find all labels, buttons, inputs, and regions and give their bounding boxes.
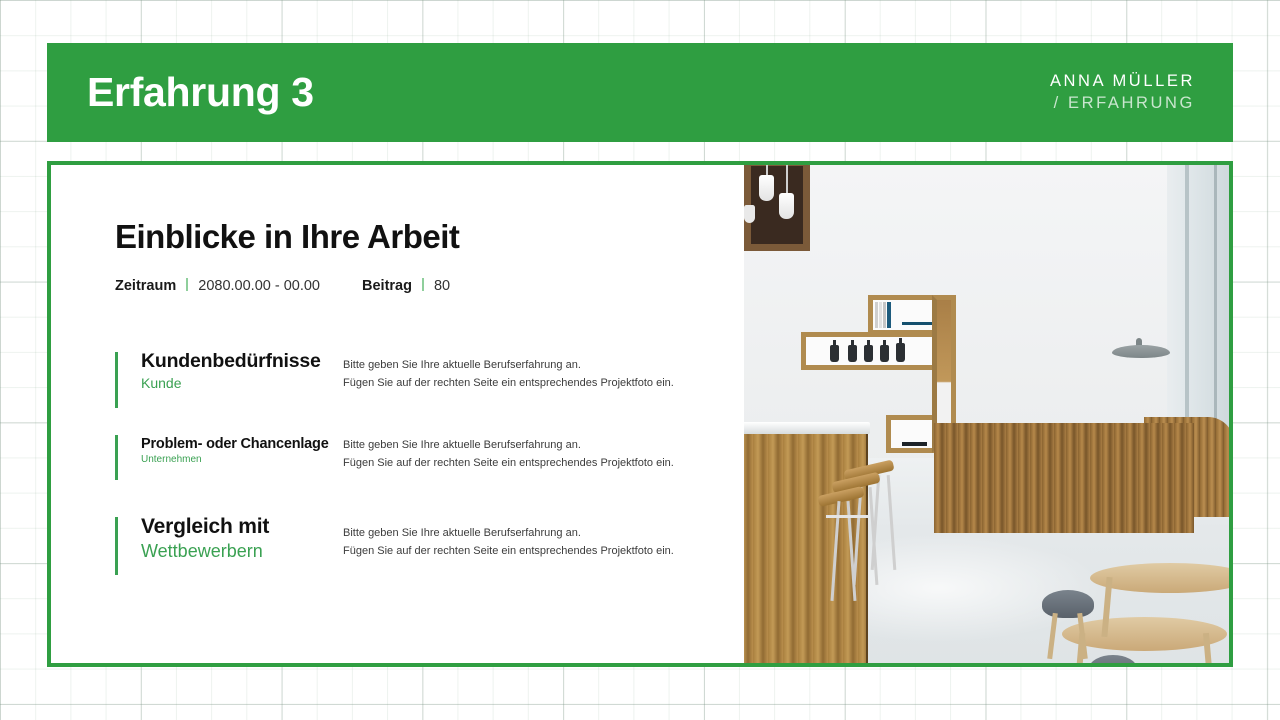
wood-partition	[934, 423, 1194, 533]
feature-description-line: Fügen Sie auf der rechten Seite ein ents…	[343, 542, 744, 560]
bottle	[896, 343, 905, 362]
pendant-lamp	[744, 205, 755, 223]
feature-description: Bitte geben Sie Ihre aktuelle Berufserfa…	[343, 350, 744, 392]
pendant-lamp	[779, 193, 794, 219]
feature-block: Kundenbedürfnisse Kunde Bitte geben Sie …	[115, 350, 744, 392]
feature-subtitle: Unternehmen	[141, 454, 343, 466]
bottle	[830, 345, 839, 362]
feature-block: Vergleich mit Wettbewerbern Bitte geben …	[115, 515, 744, 563]
meta-row: Zeitraum 2080.00.00 - 00.00 Beitrag 80	[115, 277, 744, 294]
bottle	[880, 345, 889, 362]
feature-heading-group: Problem- oder Chancenlage Unternehmen	[141, 433, 343, 467]
feature-subtitle: Kunde	[141, 375, 343, 392]
accent-bar-icon	[115, 352, 118, 408]
pendant-cord	[786, 165, 788, 193]
bottle	[848, 345, 857, 362]
feature-title: Vergleich mit	[141, 515, 343, 539]
content-card: Einblicke in Ihre Arbeit Zeitraum 2080.0…	[47, 161, 1233, 667]
contribution-value: 80	[434, 278, 450, 294]
card-title: Einblicke in Ihre Arbeit	[115, 220, 744, 255]
feature-heading-group: Kundenbedürfnisse Kunde	[141, 350, 343, 392]
contribution-label: Beitrag	[362, 278, 412, 294]
period-value: 2080.00.00 - 00.00	[198, 278, 320, 294]
book	[875, 302, 878, 328]
book	[902, 322, 932, 325]
slide-root: Erfahrung 3 ANNA MÜLLER / ERFAHRUNG Einb…	[0, 0, 1280, 720]
feature-title: Kundenbedürfnisse	[141, 350, 343, 372]
section-label: / ERFAHRUNG	[1050, 93, 1195, 115]
card-left-column: Einblicke in Ihre Arbeit Zeitraum 2080.0…	[51, 165, 744, 663]
photo-scene	[744, 165, 1229, 663]
bar-stool-rung	[826, 515, 868, 518]
stool-chair	[1042, 590, 1094, 618]
pendant-cord	[766, 165, 768, 175]
feature-description-line: Fügen Sie auf der rechten Seite ein ents…	[343, 374, 744, 392]
book	[902, 442, 927, 446]
bottle	[864, 345, 873, 362]
meta-divider-icon	[186, 278, 188, 291]
feature-description-line: Bitte geben Sie Ihre aktuelle Berufserfa…	[343, 356, 744, 374]
header-bar: Erfahrung 3 ANNA MÜLLER / ERFAHRUNG	[47, 43, 1233, 142]
feature-subtitle: Wettbewerbern	[141, 541, 343, 563]
feature-description-line: Bitte geben Sie Ihre aktuelle Berufserfa…	[343, 524, 744, 542]
book	[883, 302, 886, 328]
feature-description: Bitte geben Sie Ihre aktuelle Berufserfa…	[343, 515, 744, 560]
header-meta: ANNA MÜLLER / ERFAHRUNG	[1050, 71, 1195, 115]
book	[887, 302, 891, 328]
accent-bar-icon	[115, 517, 118, 575]
project-photo	[744, 165, 1229, 663]
feature-block: Problem- oder Chancenlage Unternehmen Bi…	[115, 433, 744, 472]
wall-lamp	[1112, 345, 1170, 358]
bar-counter-top	[744, 422, 870, 434]
meta-divider-icon	[422, 278, 424, 291]
author-name: ANNA MÜLLER	[1050, 71, 1195, 93]
book	[879, 302, 882, 328]
feature-heading-group: Vergleich mit Wettbewerbern	[141, 515, 343, 563]
pendant-lamp	[759, 175, 774, 201]
feature-description-line: Bitte geben Sie Ihre aktuelle Berufserfa…	[343, 436, 744, 454]
period-label: Zeitraum	[115, 278, 176, 294]
feature-title: Problem- oder Chancenlage	[141, 436, 343, 453]
page-title: Erfahrung 3	[87, 72, 314, 113]
accent-bar-icon	[115, 435, 118, 480]
feature-description: Bitte geben Sie Ihre aktuelle Berufserfa…	[343, 433, 744, 472]
feature-description-line: Fügen Sie auf der rechten Seite ein ents…	[343, 454, 744, 472]
